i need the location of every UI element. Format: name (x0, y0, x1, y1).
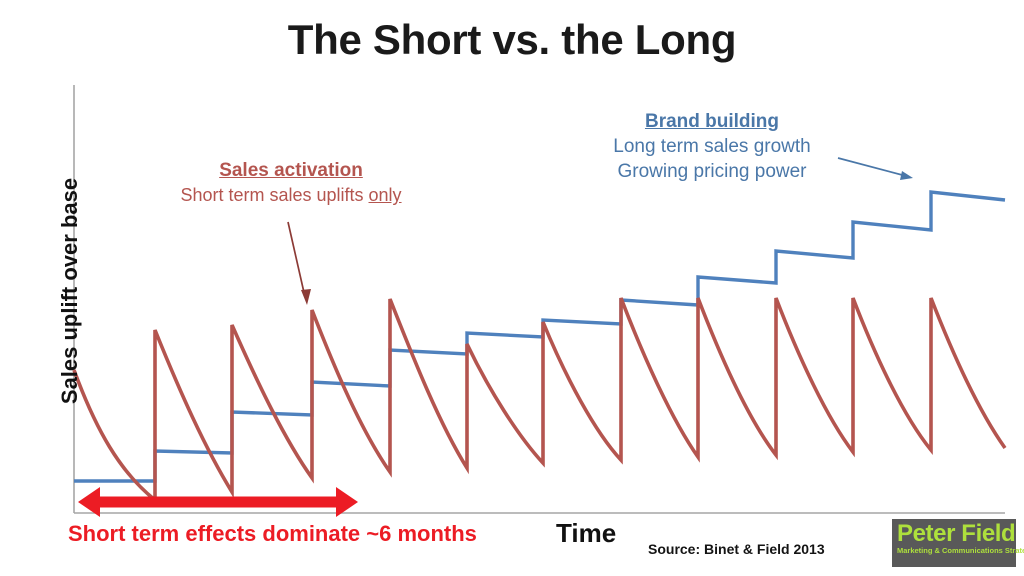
logo-tagline: Marketing & Communications Strategy (897, 547, 1011, 555)
annotation-sales-activation-detail-text: Short term sales uplifts (180, 185, 368, 205)
annotation-sales-activation: Sales activation Short term sales uplift… (146, 160, 436, 207)
annotation-sales-activation-detail: Short term sales uplifts only (146, 185, 436, 206)
annotation-sales-activation-detail-emphasis: only (369, 185, 402, 205)
y-axis-label: Sales uplift over base (57, 161, 83, 421)
annotation-brand-building-heading: Brand building (566, 111, 858, 134)
peter-field-logo: Peter Field Marketing & Communications S… (892, 519, 1016, 567)
chart-axes (74, 85, 1005, 513)
logo-brand-name: Peter Field (897, 522, 1011, 546)
x-axis-label: Time (556, 518, 616, 549)
annotation-brand-building-line-2: Growing pricing power (566, 161, 858, 184)
chart-plot-area (0, 0, 1024, 576)
annotation-sales-activation-heading: Sales activation (146, 160, 436, 182)
annotation-brand-building-line-1: Long term sales growth (566, 136, 858, 159)
short-term-span-label: Short term effects dominate ~6 months (68, 521, 477, 547)
sales-activation-pointer-icon (288, 222, 311, 305)
source-citation: Source: Binet & Field 2013 (648, 541, 825, 557)
annotation-brand-building: Brand building Long term sales growth Gr… (566, 111, 858, 183)
series-brand-building (74, 192, 1005, 481)
slide-canvas: The Short vs. the Long Sales uplift over (0, 0, 1024, 576)
series-sales-activation (74, 298, 1005, 500)
